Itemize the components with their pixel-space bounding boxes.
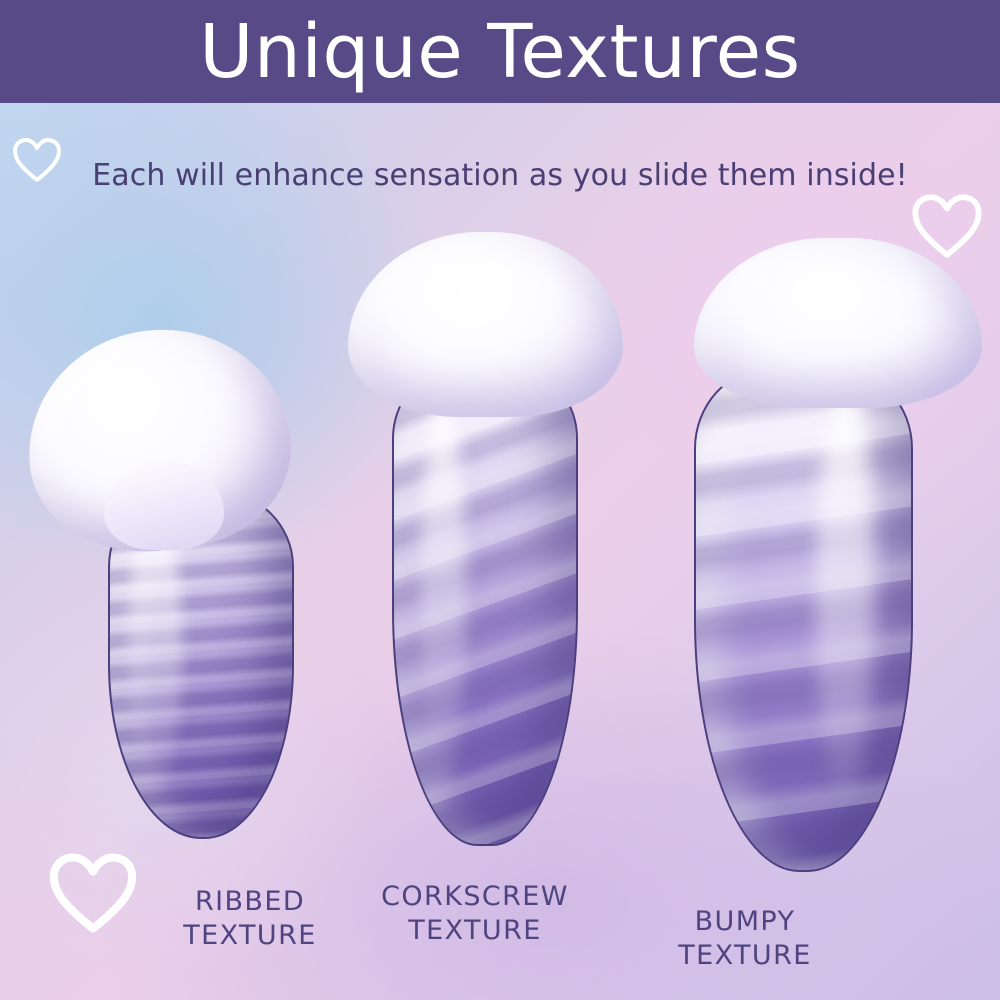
corkscrew-shaft	[392, 372, 578, 846]
corkscrew-highlight	[420, 394, 466, 794]
caption-bumpy: BUMPY TEXTURE	[620, 905, 870, 973]
product-image-bumpy	[660, 238, 990, 888]
product-image-ribbed	[20, 310, 310, 850]
caption-ribbed: RIBBED TEXTURE	[140, 885, 360, 953]
bumpy-suction-base	[694, 238, 982, 408]
corkscrew-suction-base	[348, 232, 623, 417]
product-image-corkscrew	[338, 232, 638, 862]
caption-corkscrew: CORKSCREW TEXTURE	[345, 880, 605, 948]
product-infographic: Unique Textures Each will enhance sensat…	[0, 0, 1000, 1000]
bumpy-highlight	[816, 384, 874, 804]
product-images	[0, 0, 1000, 1000]
bumpy-shaft	[694, 368, 913, 872]
bumpy-texture-pattern	[696, 370, 911, 870]
